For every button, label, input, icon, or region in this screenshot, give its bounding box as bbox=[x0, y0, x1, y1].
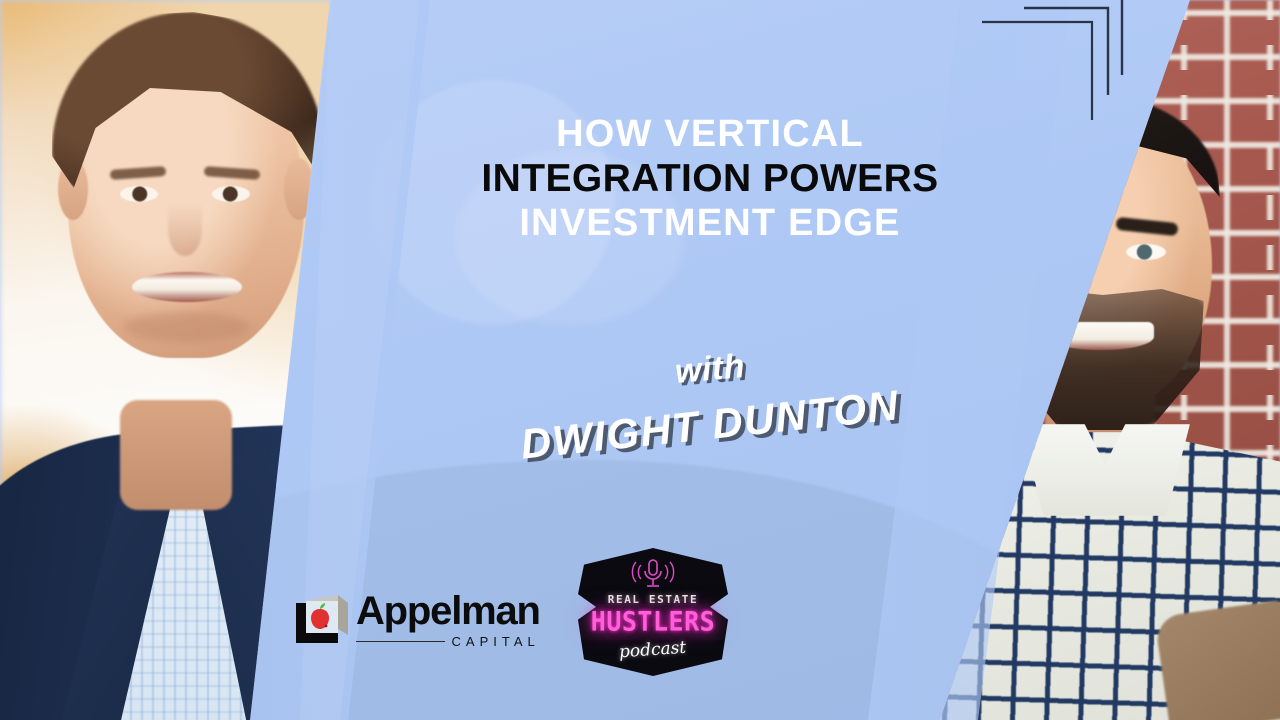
title-line-1: HOW VERTICAL bbox=[400, 112, 1020, 156]
sponsor-logo: Appelman CAPITAL bbox=[292, 583, 562, 655]
with-label: with bbox=[673, 347, 746, 392]
guest-eye-left bbox=[120, 186, 158, 202]
guest-nose bbox=[168, 204, 202, 256]
sponsor-divider-rule bbox=[356, 641, 445, 642]
thumbnail-canvas: HOW VERTICAL INTEGRATION POWERS INVESTME… bbox=[0, 0, 1280, 720]
guest-credit: with DWIGHT DUNTON bbox=[400, 350, 1020, 449]
sponsor-name: Appelman bbox=[356, 591, 540, 631]
guest-mouth bbox=[132, 272, 242, 302]
sponsor-wordmark: Appelman CAPITAL bbox=[356, 589, 540, 649]
badge-line-top: REAL ESTATE bbox=[608, 593, 698, 606]
badge-content: REAL ESTATE HUSTLERS podcast bbox=[578, 548, 728, 676]
apple-in-box-icon bbox=[292, 591, 348, 647]
microphone-icon bbox=[626, 557, 680, 590]
host-eye-right bbox=[1126, 244, 1166, 260]
guest-chin-shadow bbox=[124, 312, 250, 342]
sponsor-subtitle: CAPITAL bbox=[452, 634, 540, 649]
apple-in-box-glyph bbox=[292, 591, 348, 647]
title-line-2: INTEGRATION POWERS bbox=[400, 156, 1020, 201]
podcast-logo-badge: REAL ESTATE HUSTLERS podcast bbox=[578, 548, 728, 676]
guest-neck bbox=[120, 400, 232, 510]
title-line-3: INVESTMENT EDGE bbox=[400, 201, 1020, 245]
episode-title: HOW VERTICAL INTEGRATION POWERS INVESTME… bbox=[400, 112, 1020, 245]
guest-eye-right bbox=[212, 186, 250, 202]
center-content-panel: HOW VERTICAL INTEGRATION POWERS INVESTME… bbox=[400, 0, 1020, 720]
sponsor-subtitle-row: CAPITAL bbox=[356, 634, 540, 649]
host-bag-strap bbox=[1154, 600, 1280, 720]
badge-line-main: HUSTLERS bbox=[591, 606, 715, 637]
badge-line-bottom: podcast bbox=[619, 638, 687, 663]
